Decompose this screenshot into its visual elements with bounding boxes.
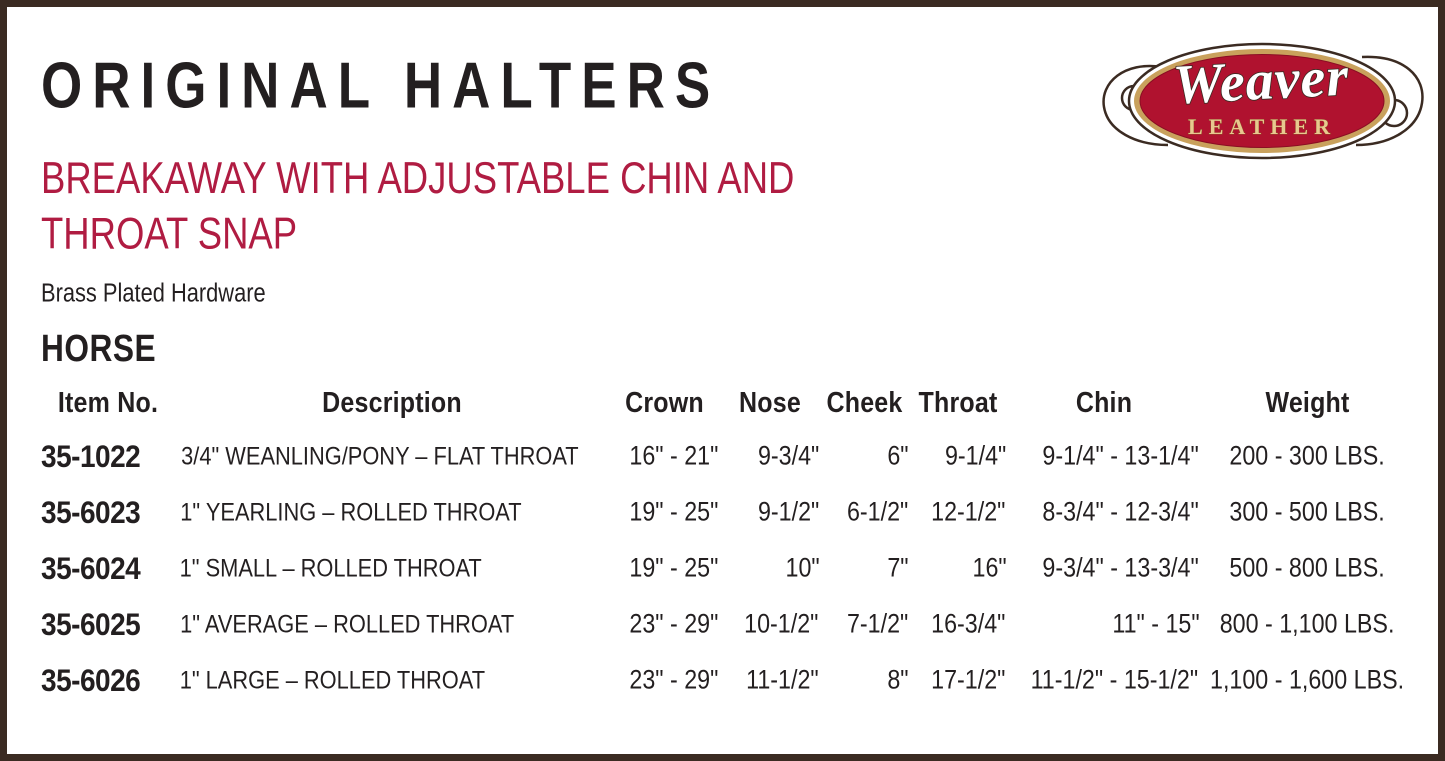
cell-throat: 12-1/2" xyxy=(909,485,1007,541)
cell-item-no: 35-1022 xyxy=(41,429,175,485)
cell-description: 1" LARGE – ROLLED THROAT xyxy=(175,653,609,709)
cell-nose: 10" xyxy=(720,541,820,597)
cell-description: 1" SMALL – ROLLED THROAT xyxy=(175,541,609,597)
cell-cheek: 6" xyxy=(820,429,909,485)
spec-sheet-page: ORIGINAL HALTERS BREAKAWAY WITH ADJUSTAB… xyxy=(0,0,1445,761)
table-header-row: Item No. Description Crown Nose Cheek Th… xyxy=(41,377,1414,429)
cell-throat: 16" xyxy=(909,541,1007,597)
col-header-crown: Crown xyxy=(609,377,720,429)
cell-throat: 17-1/2" xyxy=(909,653,1007,709)
cell-crown: 23" - 29" xyxy=(609,597,720,653)
spec-table-body: 35-1022 3/4" WEANLING/PONY – FLAT THROAT… xyxy=(41,429,1414,709)
spec-table: Item No. Description Crown Nose Cheek Th… xyxy=(41,377,1414,709)
cell-crown: 23" - 29" xyxy=(609,653,720,709)
cell-chin: 8-3/4" - 12-3/4" xyxy=(1007,485,1201,541)
logo-leather-text: LEATHER xyxy=(1188,114,1336,139)
cell-description: 1" YEARLING – ROLLED THROAT xyxy=(175,485,609,541)
cell-nose: 9-1/2" xyxy=(720,485,820,541)
cell-nose: 11-1/2" xyxy=(720,653,820,709)
cell-cheek: 7" xyxy=(820,541,909,597)
page-inner: ORIGINAL HALTERS BREAKAWAY WITH ADJUSTAB… xyxy=(7,7,1438,754)
cell-throat: 9-1/4" xyxy=(909,429,1007,485)
weaver-leather-logo: Weaver LEATHER xyxy=(1094,21,1430,176)
cell-cheek: 7-1/2" xyxy=(820,597,909,653)
table-row: 35-1022 3/4" WEANLING/PONY – FLAT THROAT… xyxy=(41,429,1414,485)
table-row: 35-6026 1" LARGE – ROLLED THROAT 23" - 2… xyxy=(41,653,1414,709)
cell-nose: 10-1/2" xyxy=(720,597,820,653)
svg-text:Weaver: Weaver xyxy=(1172,45,1351,116)
cell-weight: 300 - 500 LBS. xyxy=(1201,485,1414,541)
spec-table-head: Item No. Description Crown Nose Cheek Th… xyxy=(41,377,1414,429)
cell-item-no: 35-6026 xyxy=(41,653,175,709)
cell-crown: 19" - 25" xyxy=(609,485,720,541)
cell-description: 3/4" WEANLING/PONY – FLAT THROAT xyxy=(175,429,609,485)
col-header-nose: Nose xyxy=(720,377,820,429)
cell-chin: 9-3/4" - 13-3/4" xyxy=(1007,541,1201,597)
cell-item-no: 35-6023 xyxy=(41,485,175,541)
cell-cheek: 8" xyxy=(820,653,909,709)
cell-chin: 9-1/4" - 13-1/4" xyxy=(1007,429,1201,485)
spec-table-wrapper: Item No. Description Crown Nose Cheek Th… xyxy=(41,377,1414,709)
cell-weight: 1,100 - 1,600 LBS. xyxy=(1201,653,1414,709)
cell-item-no: 35-6025 xyxy=(41,597,175,653)
cell-chin: 11-1/2" - 15-1/2" xyxy=(1007,653,1201,709)
table-row: 35-6024 1" SMALL – ROLLED THROAT 19" - 2… xyxy=(41,541,1414,597)
col-header-throat: Throat xyxy=(909,377,1007,429)
cell-cheek: 6-1/2" xyxy=(820,485,909,541)
cell-crown: 16" - 21" xyxy=(609,429,720,485)
cell-description: 1" AVERAGE – ROLLED THROAT xyxy=(175,597,609,653)
cell-weight: 200 - 300 LBS. xyxy=(1201,429,1414,485)
hardware-note: Brass Plated Hardware xyxy=(41,239,1336,308)
col-header-description: Description xyxy=(175,377,609,429)
category-heading: HORSE xyxy=(41,301,1349,370)
cell-chin: 11" - 15" xyxy=(1007,597,1201,653)
col-header-cheek: Cheek xyxy=(820,377,909,429)
col-header-chin: Chin xyxy=(1007,377,1201,429)
logo-weaver-text: Weaver xyxy=(1172,45,1351,116)
cell-throat: 16-3/4" xyxy=(909,597,1007,653)
cell-crown: 19" - 25" xyxy=(609,541,720,597)
cell-item-no: 35-6024 xyxy=(41,541,175,597)
cell-weight: 500 - 800 LBS. xyxy=(1201,541,1414,597)
table-row: 35-6023 1" YEARLING – ROLLED THROAT 19" … xyxy=(41,485,1414,541)
cell-nose: 9-3/4" xyxy=(720,429,820,485)
col-header-weight: Weight xyxy=(1201,377,1414,429)
table-row: 35-6025 1" AVERAGE – ROLLED THROAT 23" -… xyxy=(41,597,1414,653)
cell-weight: 800 - 1,100 LBS. xyxy=(1201,597,1414,653)
col-header-item-no: Item No. xyxy=(41,377,175,429)
svg-text:LEATHER: LEATHER xyxy=(1188,114,1336,139)
